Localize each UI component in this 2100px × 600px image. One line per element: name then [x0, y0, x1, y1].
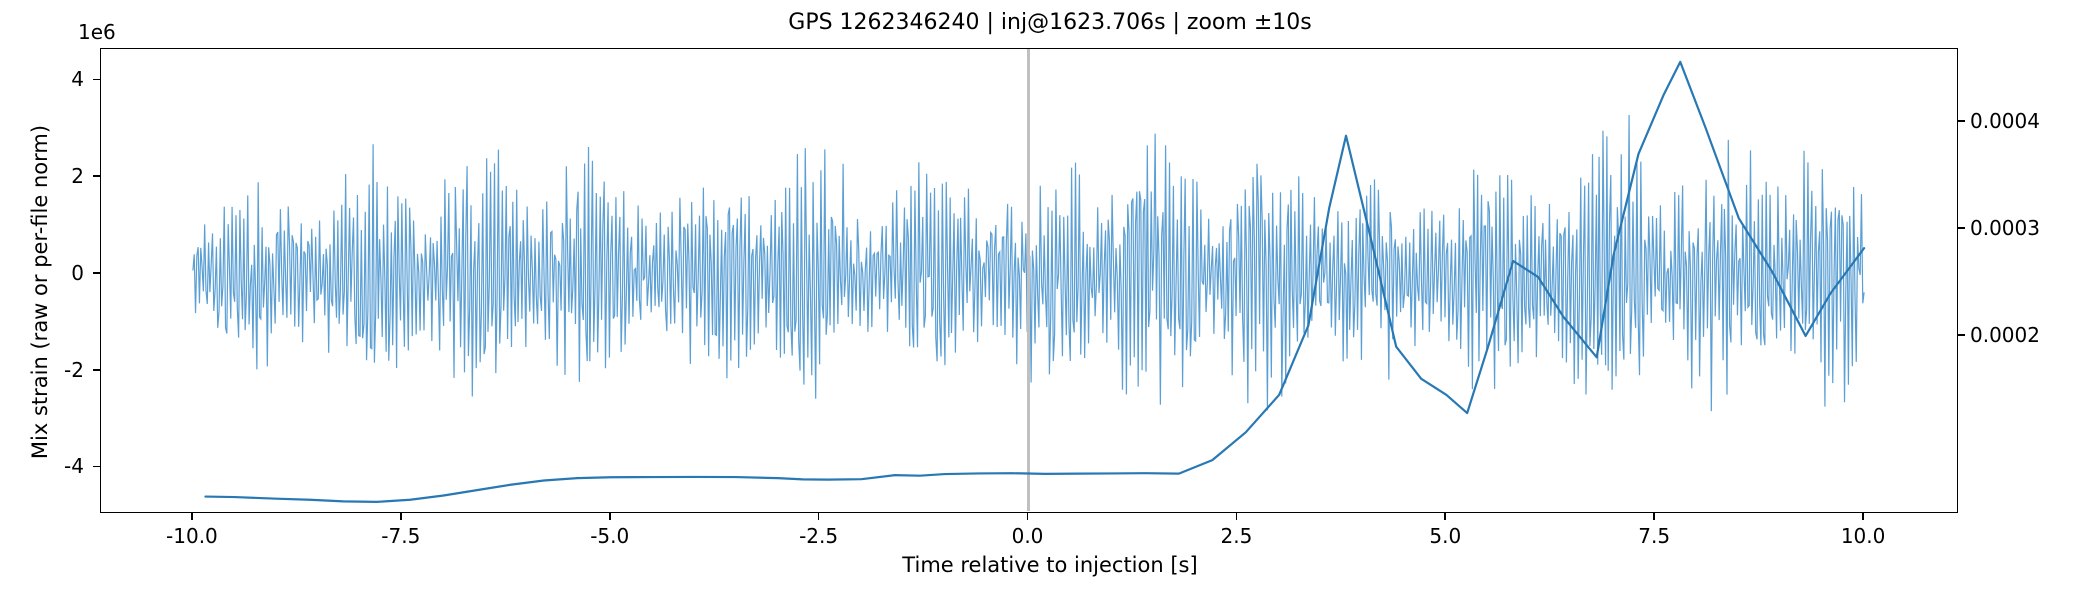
x-tick-label: -2.5	[799, 524, 838, 548]
y-left-tickmark	[93, 369, 100, 371]
x-tickmark	[1653, 513, 1655, 520]
y-right-tick-label: 0.0004	[1970, 109, 2040, 133]
plot-svg	[101, 49, 1956, 511]
figure-canvas: GPS 1262346240 | inj@1623.706s | zoom ±1…	[0, 0, 2100, 600]
x-axis-label: Time relative to injection [s]	[0, 553, 2100, 577]
y-left-tickmark	[93, 272, 100, 274]
x-tick-label: 0.0	[1012, 524, 1044, 548]
y-right-tickmark	[1958, 334, 1965, 336]
x-tick-label: -10.0	[166, 524, 218, 548]
x-tick-label: -5.0	[590, 524, 629, 548]
y-left-tickmark	[93, 466, 100, 468]
x-tickmark	[1027, 513, 1029, 520]
x-tick-label: 5.0	[1429, 524, 1461, 548]
y-right-tick-label: 0.0003	[1970, 216, 2040, 240]
y-left-tickmark	[93, 79, 100, 81]
y-axis-left-label: Mix strain (raw or per-file norm)	[28, 62, 52, 522]
x-tickmark	[1444, 513, 1446, 520]
plot-title: GPS 1262346240 | inj@1623.706s | zoom ±1…	[0, 10, 2100, 35]
x-tick-label: 7.5	[1638, 524, 1670, 548]
x-tickmark	[1236, 513, 1238, 520]
y-right-tick-label: 0.0002	[1970, 323, 2040, 347]
x-tick-label: -7.5	[381, 524, 420, 548]
plot-area	[100, 48, 1958, 513]
x-tickmark	[609, 513, 611, 520]
x-tick-label: 2.5	[1220, 524, 1252, 548]
y-axis-offset-text: 1e6	[78, 20, 116, 44]
y-right-tickmark	[1958, 120, 1965, 122]
x-tickmark	[1862, 513, 1864, 520]
y-left-tickmark	[93, 175, 100, 177]
x-tick-label: 10.0	[1841, 524, 1886, 548]
x-tickmark	[818, 513, 820, 520]
y-right-tickmark	[1958, 227, 1965, 229]
x-tickmark	[400, 513, 402, 520]
x-tickmark	[191, 513, 193, 520]
